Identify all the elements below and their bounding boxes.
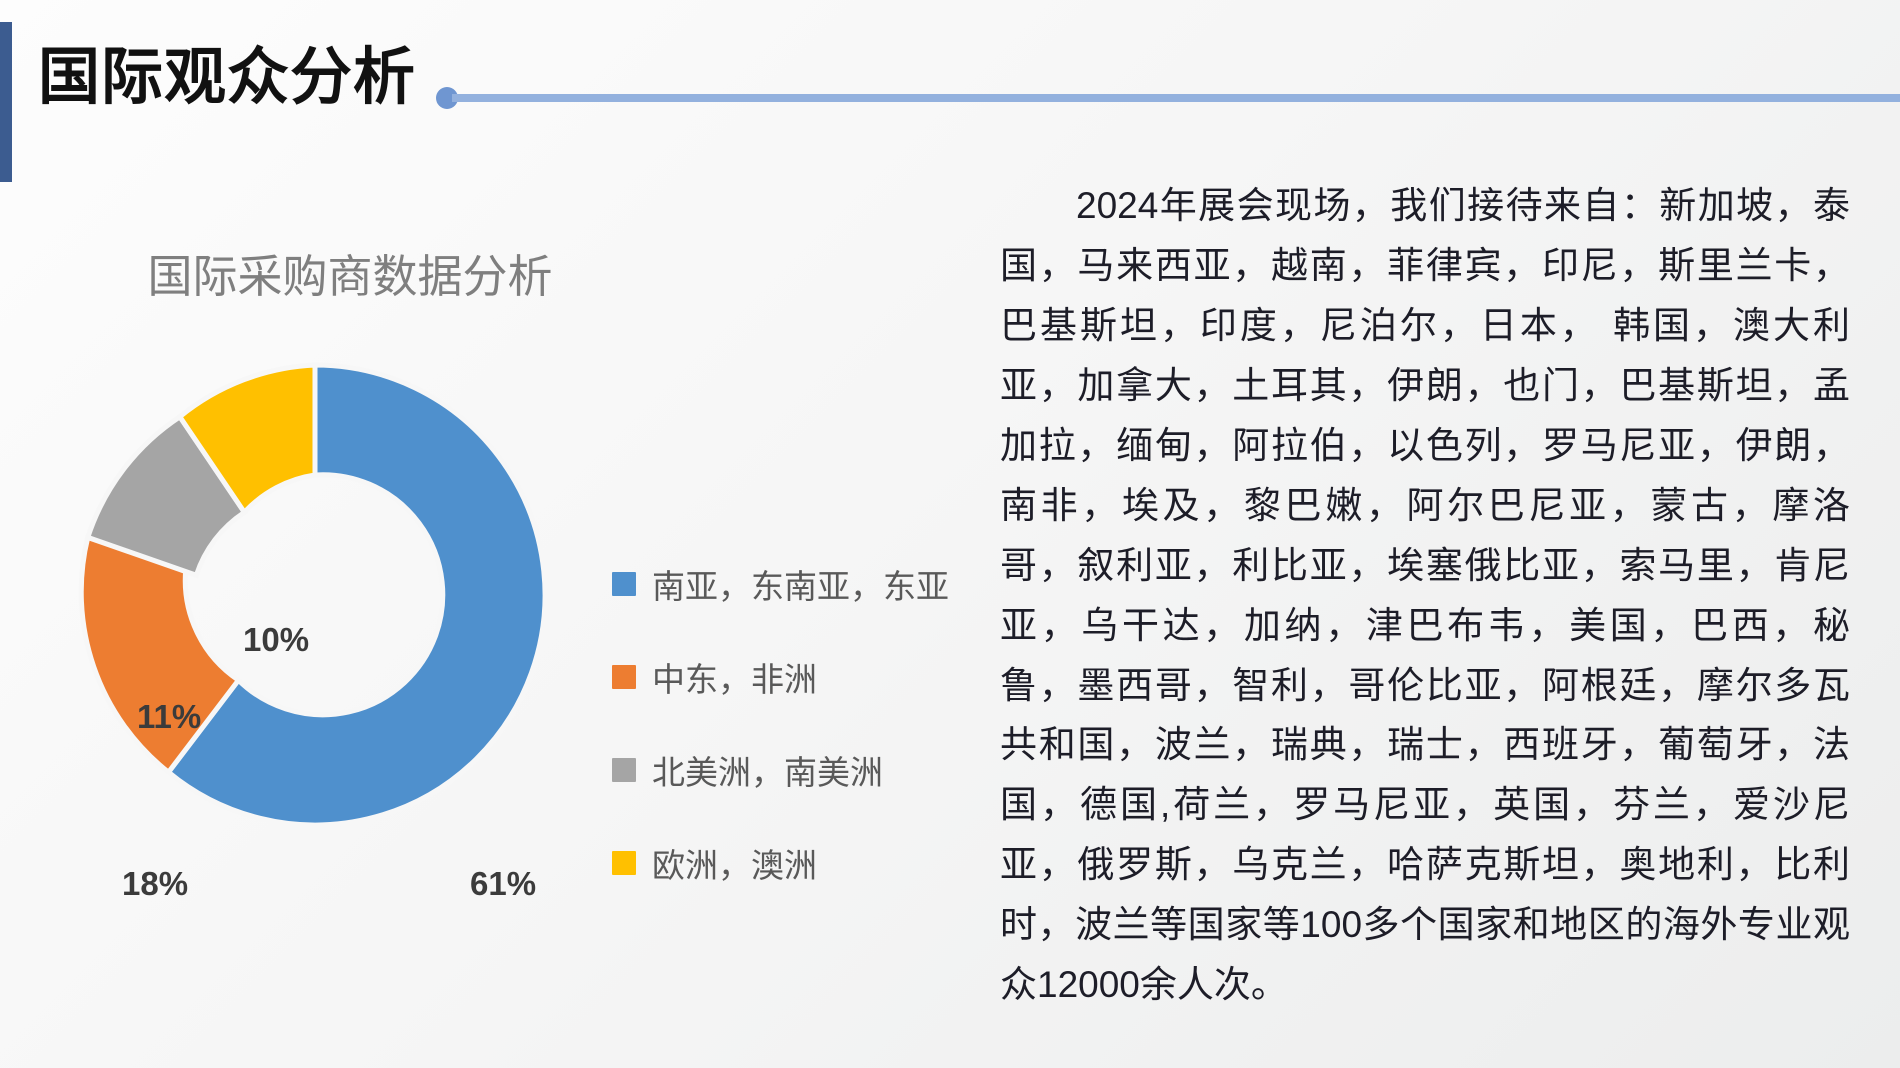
donut-chart (60, 340, 570, 850)
chart-panel: 国际采购商数据分析 61% 18% 11% 10% (0, 185, 960, 995)
legend-item-label: 欧洲，澳洲 (652, 839, 817, 887)
chart-title: 国际采购商数据分析 (0, 240, 700, 305)
legend-item-label: 北美洲，南美洲 (652, 746, 883, 794)
slide: 国际观众分析 国际采购商数据分析 61% 18% (0, 0, 1900, 1068)
slice-label-europe-oceania: 10% (243, 621, 309, 659)
donut-slices (81, 365, 545, 825)
title-line-decoration (452, 94, 1900, 102)
legend-item-south-asia[interactable]: 南亚，东南亚，东亚 (612, 537, 1012, 630)
legend-swatch-icon (612, 665, 636, 689)
legend-item-americas[interactable]: 北美洲，南美洲 (612, 723, 1012, 816)
slice-label-middle-east-africa: 18% (122, 865, 188, 903)
legend-swatch-icon (612, 758, 636, 782)
legend-item-label: 中东，非洲 (652, 653, 817, 701)
page-title: 国际观众分析 (38, 45, 416, 110)
slice-label-americas: 11% (137, 698, 201, 736)
body-paragraph: 2024年展会现场，我们接待来自：新加坡，泰国，马来西亚，越南，菲律宾，印尼，斯… (1000, 176, 1850, 1015)
legend-swatch-icon (612, 572, 636, 596)
legend-swatch-icon (612, 851, 636, 875)
legend-item-label: 南亚，东南亚，东亚 (652, 560, 949, 608)
slice-label-south-asia: 61% (470, 865, 536, 903)
donut-chart-svg (60, 340, 570, 850)
legend-item-europe-oceania[interactable]: 欧洲，澳洲 (612, 816, 1012, 909)
title-accent-bar (0, 22, 12, 182)
legend-item-middle-east-africa[interactable]: 中东，非洲 (612, 630, 1012, 723)
chart-legend: 南亚，东南亚，东亚 中东，非洲 北美洲，南美洲 欧洲，澳洲 (612, 537, 1012, 909)
